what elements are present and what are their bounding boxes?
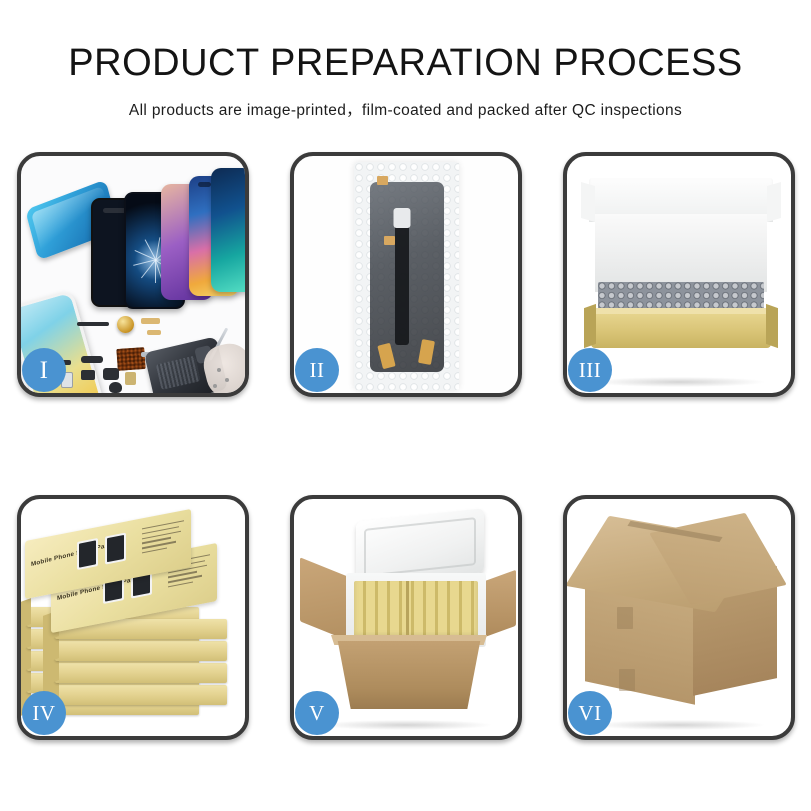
page-header: PRODUCT PREPARATION PROCESS All products… bbox=[0, 0, 811, 120]
carton-tape-patch-upper bbox=[617, 607, 633, 629]
process-step-4[interactable]: Mobile Phone Spare Parts Mobile Phone Sp… bbox=[17, 495, 249, 740]
carton-tape-patch-lower bbox=[619, 669, 635, 691]
speaker-bar-part bbox=[77, 322, 109, 326]
screw-part bbox=[213, 384, 217, 388]
gold-flex-part-b bbox=[147, 330, 161, 335]
page-subtitle: All products are image-printed，film-coat… bbox=[0, 82, 811, 120]
lcd-connector bbox=[394, 208, 411, 228]
yellow-boxes-inside bbox=[354, 581, 478, 639]
process-step-2[interactable]: II bbox=[290, 152, 522, 397]
step-badge-1: I bbox=[22, 348, 66, 392]
stacked-box-edge bbox=[55, 641, 227, 661]
gold-flex-part-a bbox=[141, 318, 160, 324]
lcd-flex-cable bbox=[395, 210, 409, 345]
box-product-photo bbox=[77, 538, 98, 570]
box-label-text: Mobile Phone Spare Parts bbox=[31, 541, 114, 568]
copper-mesh-part bbox=[116, 347, 145, 371]
teal-screen-phone bbox=[211, 168, 245, 292]
drop-shadow bbox=[594, 720, 764, 730]
stacked-box-edge bbox=[55, 663, 227, 683]
screw-part bbox=[225, 378, 229, 382]
camera-module-part bbox=[103, 368, 119, 380]
gold-coil-part bbox=[117, 316, 134, 333]
battery-connector-part bbox=[125, 372, 136, 385]
bubble-wrap-bag bbox=[354, 162, 459, 390]
tape-marker-top bbox=[377, 176, 388, 185]
step-badge-3: III bbox=[568, 348, 612, 392]
process-step-1[interactable]: I bbox=[17, 152, 249, 397]
process-steps-grid: I II III bbox=[17, 152, 795, 740]
yellow-box-front bbox=[591, 314, 771, 348]
page-title: PRODUCT PREPARATION PROCESS bbox=[0, 44, 811, 82]
drop-shadow bbox=[594, 377, 764, 387]
screw-part bbox=[217, 368, 221, 372]
carton-front-panel bbox=[328, 641, 490, 709]
box-spec-lines bbox=[142, 520, 184, 562]
box-product-photo bbox=[105, 533, 126, 565]
step-badge-6: VI bbox=[568, 691, 612, 735]
drop-shadow bbox=[321, 720, 491, 730]
process-step-5[interactable]: V bbox=[290, 495, 522, 740]
process-step-3[interactable]: III bbox=[563, 152, 795, 397]
step-badge-2: II bbox=[295, 348, 339, 392]
vibrator-part bbox=[109, 382, 122, 393]
step-badge-4: IV bbox=[22, 691, 66, 735]
small-chip-part bbox=[81, 370, 95, 380]
tape-marker-mid bbox=[384, 236, 395, 245]
white-foam-sheet bbox=[595, 214, 767, 292]
flex-connector-part bbox=[81, 356, 103, 363]
step-badge-5: V bbox=[295, 691, 339, 735]
stacked-box-edge bbox=[55, 685, 227, 705]
process-step-6[interactable]: VI bbox=[563, 495, 795, 740]
